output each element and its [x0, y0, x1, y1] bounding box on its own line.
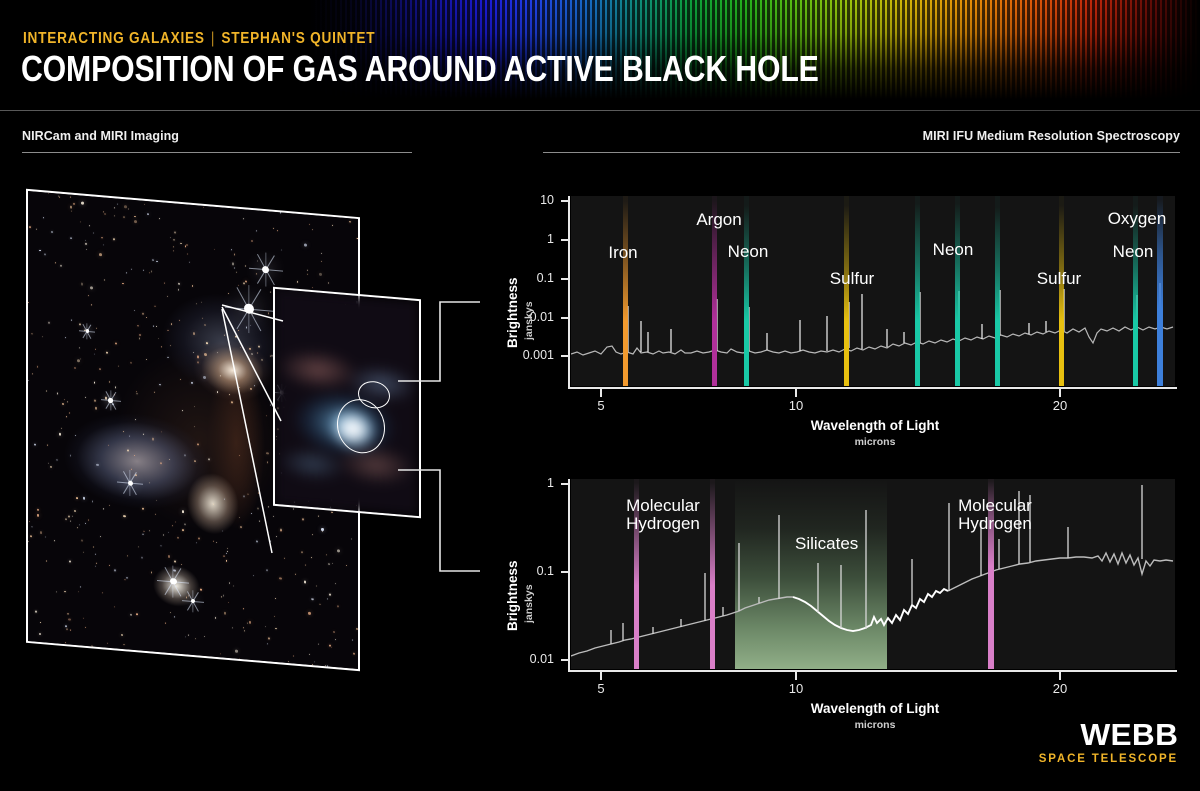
bottom-ytick-label-0p01: 0.01 [496, 652, 554, 666]
bottom-x-axis-title: Wavelength of Light [700, 701, 1050, 716]
label-silicates: Silicates [795, 534, 858, 554]
webb-subtitle: SPACE TELESCOPE [1039, 753, 1178, 765]
bottom-ytick-1 [561, 483, 569, 485]
bottom-y-axis-line [568, 479, 570, 672]
label-molecular-hydrogen-left: MolecularHydrogen [580, 497, 746, 534]
label-molecular-hydrogen-right: MolecularHydrogen [912, 497, 1078, 534]
bottom-ytick-label-1: 1 [496, 476, 554, 490]
webb-logo: WEBB SPACE TELESCOPE [1039, 719, 1178, 765]
bottom-x-axis-units: microns [700, 719, 1050, 731]
webb-wordmark: WEBB [1036, 719, 1178, 750]
bottom-xtick-5 [600, 672, 602, 680]
bottom-x-axis-line [568, 670, 1177, 672]
bottom-xtick-20 [1059, 672, 1061, 680]
bottom-spectrum-chart: MolecularHydrogen MolecularHydrogen Sili… [0, 0, 1200, 791]
bottom-y-axis-title: Brightness [505, 560, 520, 631]
bottom-xtick-10 [795, 672, 797, 680]
bottom-xtick-label-20: 20 [1034, 681, 1086, 696]
bottom-ytick-0p1 [561, 571, 569, 573]
bottom-y-axis-units: janskys [523, 584, 535, 623]
bottom-xtick-label-5: 5 [575, 681, 627, 696]
bottom-xtick-label-10: 10 [770, 681, 822, 696]
bottom-ytick-0p01 [561, 659, 569, 661]
